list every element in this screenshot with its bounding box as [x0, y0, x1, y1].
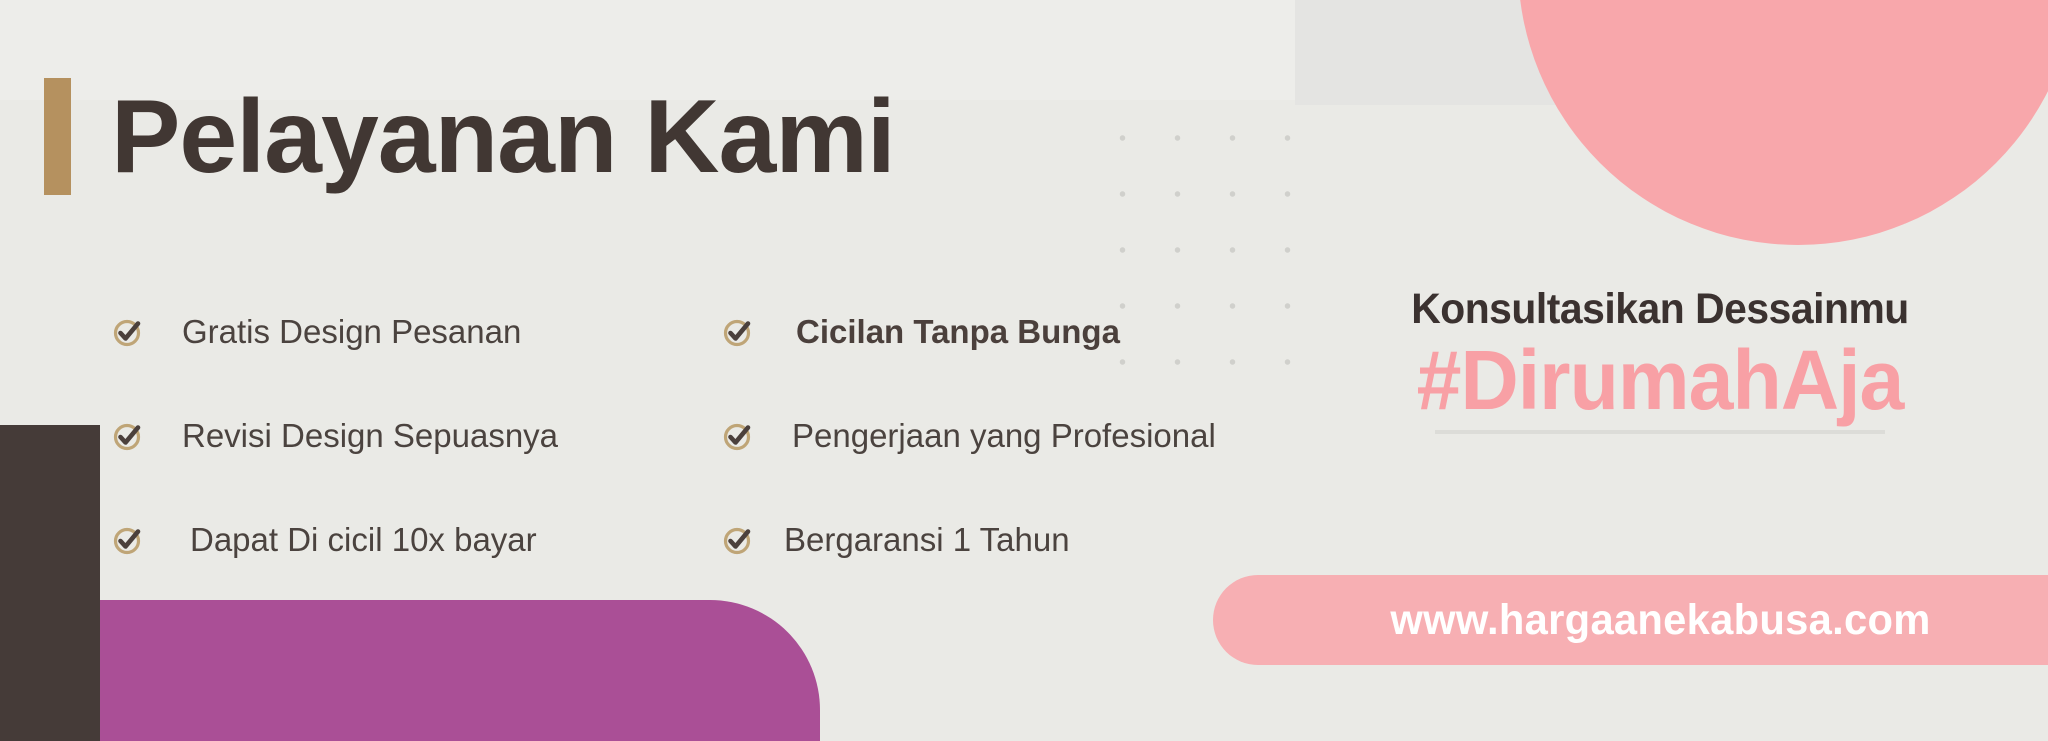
page-title-row: Pelayanan Kami: [44, 78, 895, 195]
promo-heading: Konsultasikan Dessainmu: [1318, 285, 2002, 334]
purple-rounded-block-decoration: [100, 600, 820, 741]
website-url-bar[interactable]: www.hargaanekabusa.com: [1213, 575, 2048, 665]
feature-column-left: Gratis Design Pesanan Revisi Design Sepu…: [112, 280, 722, 592]
page-title: Pelayanan Kami: [111, 85, 895, 189]
check-circle-icon: [112, 524, 144, 556]
check-circle-icon: [722, 420, 754, 452]
service-banner: Pelayanan Kami Gratis Design Pesanan Rev…: [0, 0, 2048, 741]
feature-item: Dapat Di cicil 10x bayar: [112, 488, 722, 592]
website-url-text: www.hargaanekabusa.com: [1390, 596, 1930, 645]
pink-circle-decoration: [1518, 0, 2048, 245]
feature-item: Revisi Design Sepuasnya: [112, 384, 722, 488]
feature-item: Bergaransi 1 Tahun: [722, 488, 1282, 592]
dark-rectangle-decoration: [0, 425, 100, 741]
feature-label: Pengerjaan yang Profesional: [792, 417, 1216, 455]
feature-label: Revisi Design Sepuasnya: [182, 417, 558, 455]
feature-item: Pengerjaan yang Profesional: [722, 384, 1282, 488]
check-circle-icon: [722, 524, 754, 556]
check-circle-icon: [722, 316, 754, 348]
feature-label: Bergaransi 1 Tahun: [784, 521, 1070, 559]
feature-label: Gratis Design Pesanan: [182, 313, 521, 351]
promo-underline: [1435, 430, 1885, 434]
feature-label: Dapat Di cicil 10x bayar: [190, 521, 537, 559]
feature-item: Gratis Design Pesanan: [112, 280, 722, 384]
check-circle-icon: [112, 316, 144, 348]
feature-list: Gratis Design Pesanan Revisi Design Sepu…: [112, 280, 1282, 592]
feature-item: Cicilan Tanpa Bunga: [722, 280, 1282, 384]
check-circle-icon: [112, 420, 144, 452]
title-accent-bar: [44, 78, 71, 195]
promo-block: Konsultasikan Dessainmu #DirumahAja: [1300, 285, 2020, 434]
feature-column-right: Cicilan Tanpa Bunga Pengerjaan yang Prof…: [722, 280, 1282, 592]
feature-label: Cicilan Tanpa Bunga: [796, 313, 1120, 351]
promo-hashtag: #DirumahAja: [1314, 338, 2005, 424]
